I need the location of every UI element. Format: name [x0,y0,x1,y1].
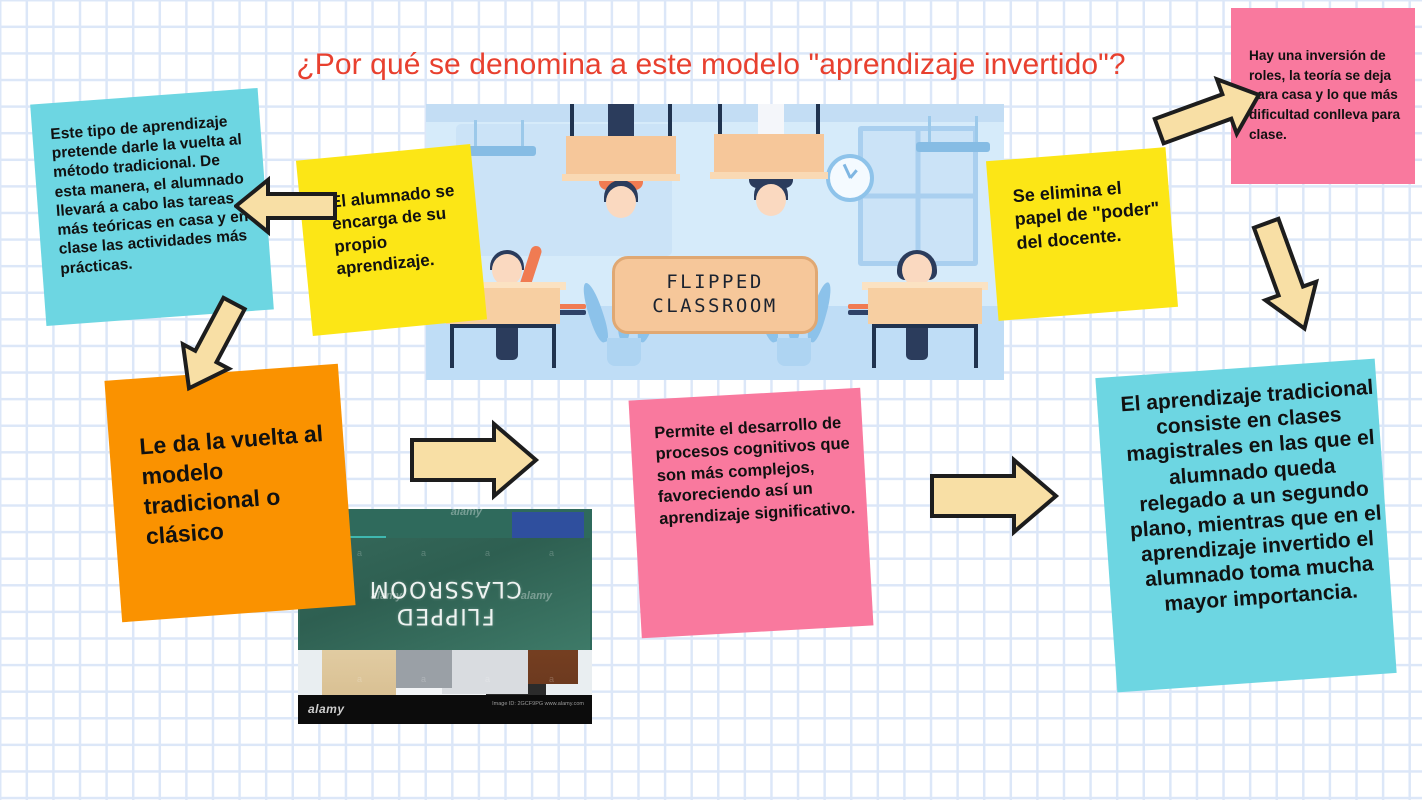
student-desk [868,288,982,368]
watermark-dot: a [549,548,554,558]
watermark-dot: a [421,674,426,684]
photo-image-code: Image ID: 2GCF9PG www.alamy.com [492,700,584,708]
sign-line-2: CLASSROOM [652,296,777,318]
note-yellow-left-text: El alumnado se encarga de su propio apre… [329,178,482,281]
alamy-logo: alamy [308,702,345,716]
arrow-up-right-icon [1152,74,1266,152]
arrow-right-icon [408,416,540,504]
classroom-illustration: FLIPPED CLASSROOM [426,104,1004,380]
watermark: alamy [451,509,482,518]
watermark-dot: a [485,674,490,684]
watermark-dot: a [357,548,362,558]
watermark-dot: a [485,548,490,558]
inverted-desk [566,104,676,236]
watermark: alamy [521,590,552,602]
note-orange-text: Le da la vuelta al modelo tradicional o … [138,418,350,552]
flipped-classroom-sign: FLIPPED CLASSROOM [612,256,818,334]
note-cyan-right-text: El aprendizaje tradicional consiste en c… [1116,375,1391,619]
note-cyan-right: El aprendizaje tradicional consiste en c… [1095,359,1396,693]
watermark-dot: a [549,674,554,684]
watermark: alamy [371,590,402,602]
arrow-down-left-icon [1232,214,1338,336]
note-pink-mid: Permite el desarrollo de procesos cognit… [629,388,874,639]
ceiling-lamp-icon [462,120,536,156]
inverted-desk [714,104,824,234]
arrow-left-icon [234,172,338,240]
note-pink-mid-text: Permite el desarrollo de procesos cognit… [654,412,868,531]
note-yellow-right: Se elimina el papel de "poder" del docen… [986,147,1178,321]
watermark-dot: a [357,674,362,684]
arrow-right-icon [928,452,1060,540]
sign-line-1: FLIPPED [666,272,764,294]
clock-icon [826,154,874,202]
watermark-dot: a [421,548,426,558]
note-orange: Le da la vuelta al modelo tradicional o … [104,364,355,622]
note-yellow-right-text: Se elimina el papel de "poder" del docen… [1012,173,1173,255]
photo-footer-bar: alamy Image ID: 2GCF9PG www.alamy.com [298,695,592,724]
note-pink-top-text: Hay una inversión de roles, la teoría se… [1249,46,1405,145]
arrow-down-right-icon [160,292,264,398]
note-cyan-left-text: Este tipo de aprendizaje pretende darle … [50,111,255,279]
ceiling-lamp-icon [916,116,990,152]
